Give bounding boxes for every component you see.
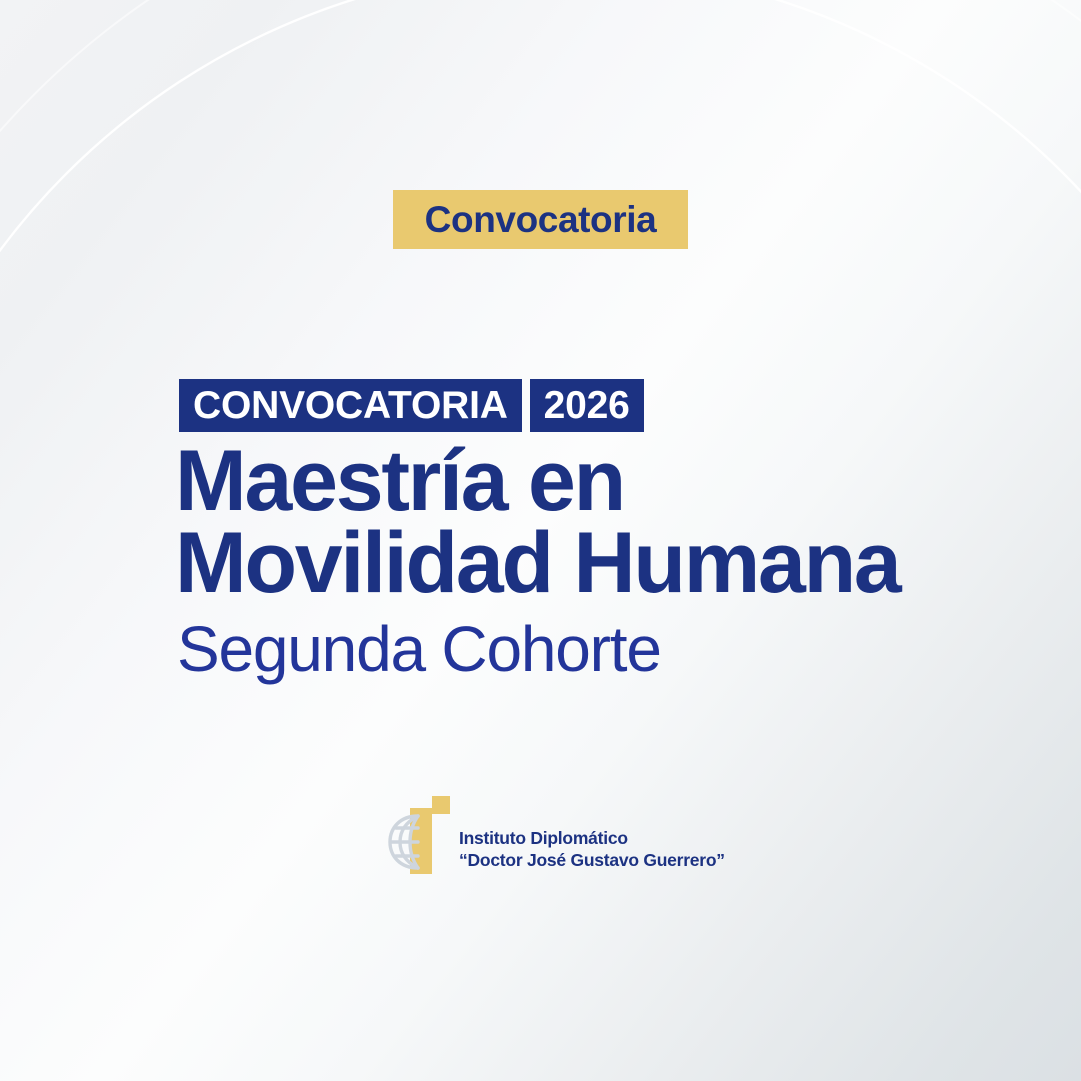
- chip-year: 2026: [530, 379, 644, 432]
- headline-block: Maestría en Movilidad Humana Segunda Coh…: [175, 441, 975, 684]
- convocatoria-badge-label: Convocatoria: [425, 201, 657, 238]
- headline-subtitle: Segunda Cohorte: [177, 616, 975, 683]
- headline-line-1: Maestría en: [175, 441, 975, 523]
- convocatoria-year-chips: CONVOCATORIA 2026: [179, 379, 644, 432]
- chip-convocatoria: CONVOCATORIA: [179, 379, 522, 432]
- chip-convocatoria-label: CONVOCATORIA: [193, 386, 508, 425]
- institution-logo-lockup: Instituto Diplomático “Doctor José Gusta…: [388, 796, 725, 880]
- convocatoria-badge: Convocatoria: [393, 190, 688, 249]
- institution-name-text: Instituto Diplomático “Doctor José Gusta…: [459, 804, 725, 872]
- instituto-diplomatico-globe-icon: [388, 796, 450, 880]
- headline-line-2: Movilidad Humana: [175, 523, 975, 605]
- chip-year-label: 2026: [544, 386, 630, 425]
- institution-name-line-2: “Doctor José Gustavo Guerrero”: [459, 850, 725, 872]
- poster-canvas: Convocatoria CONVOCATORIA 2026 Maestría …: [0, 0, 1081, 1081]
- institution-name-line-1: Instituto Diplomático: [459, 828, 725, 850]
